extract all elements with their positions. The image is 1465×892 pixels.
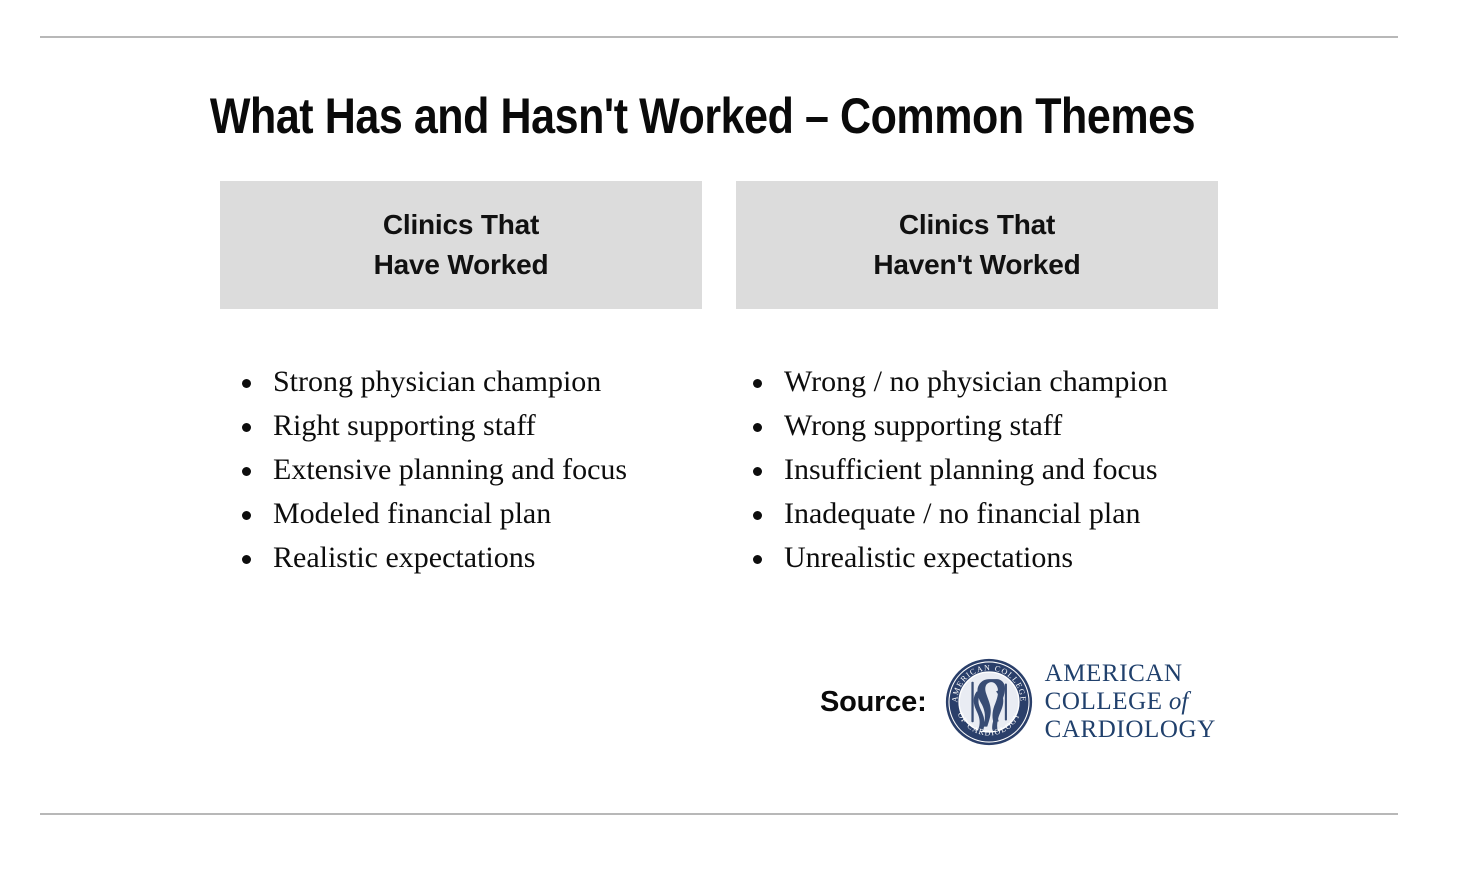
- list-item-label: Strong physician champion: [273, 365, 601, 398]
- acc-wordmark-line2-main: COLLEGE: [1045, 688, 1163, 715]
- list-item: Strong physician champion: [220, 360, 702, 404]
- list-item: Right supporting staff: [220, 404, 702, 448]
- list-item-label: Realistic expectations: [273, 541, 535, 574]
- acc-wordmark-line2-italic: of: [1163, 688, 1189, 715]
- column-header-have-worked-line1: Clinics That: [383, 210, 539, 240]
- list-item-label: Wrong / no physician champion: [784, 365, 1168, 398]
- bullet-column-have-worked: Strong physician champion Right supporti…: [220, 360, 702, 580]
- bullet-dot-icon: [753, 379, 762, 388]
- list-item: Wrong supporting staff: [736, 404, 1218, 448]
- list-item-label: Right supporting staff: [273, 409, 536, 442]
- list-item: Realistic expectations: [220, 536, 702, 580]
- list-item-label: Extensive planning and focus: [273, 453, 627, 486]
- bullet-dot-icon: [242, 423, 251, 432]
- acc-wordmark-line1: AMERICAN: [1045, 660, 1216, 688]
- list-item: Wrong / no physician champion: [736, 360, 1218, 404]
- bullet-dot-icon: [753, 555, 762, 564]
- bullet-dot-icon: [753, 467, 762, 476]
- acc-logo: AMERICAN COLLEGE OF CARDIOLOGY AMERICAN …: [945, 658, 1216, 746]
- column-bodies: Strong physician champion Right supporti…: [220, 360, 1218, 580]
- acc-wordmark-line2: COLLEGE of: [1045, 688, 1216, 716]
- list-item-label: Insufficient planning and focus: [784, 453, 1158, 486]
- bullet-dot-icon: [242, 511, 251, 520]
- bullet-column-havent-worked: Wrong / no physician champion Wrong supp…: [736, 360, 1218, 580]
- column-header-have-worked: Clinics That Have Worked: [220, 181, 702, 309]
- bullet-list-have-worked: Strong physician champion Right supporti…: [220, 360, 702, 580]
- bullet-dot-icon: [242, 379, 251, 388]
- list-item-label: Wrong supporting staff: [784, 409, 1062, 442]
- top-divider-rule: [40, 36, 1398, 38]
- list-item: Unrealistic expectations: [736, 536, 1218, 580]
- bullet-dot-icon: [753, 423, 762, 432]
- source-attribution: Source:: [820, 657, 1216, 747]
- bullet-dot-icon: [242, 467, 251, 476]
- list-item-label: Modeled financial plan: [273, 497, 551, 530]
- acc-wordmark-line3: CARDIOLOGY: [1045, 716, 1216, 744]
- list-item-label: Inadequate / no financial plan: [784, 497, 1141, 530]
- column-header-havent-worked-line2: Haven't Worked: [873, 250, 1080, 280]
- acc-seal-icon: AMERICAN COLLEGE OF CARDIOLOGY: [945, 658, 1033, 746]
- column-header-have-worked-line2: Have Worked: [374, 250, 549, 280]
- bullet-list-havent-worked: Wrong / no physician champion Wrong supp…: [736, 360, 1218, 580]
- slide-canvas: What Has and Hasn't Worked – Common Them…: [0, 0, 1465, 892]
- column-header-havent-worked: Clinics That Haven't Worked: [736, 181, 1218, 309]
- acc-wordmark: AMERICAN COLLEGE of CARDIOLOGY: [1045, 660, 1216, 744]
- list-item: Inadequate / no financial plan: [736, 492, 1218, 536]
- bullet-dot-icon: [242, 555, 251, 564]
- bottom-divider-rule: [40, 813, 1398, 815]
- bullet-dot-icon: [753, 511, 762, 520]
- list-item: Modeled financial plan: [220, 492, 702, 536]
- column-header-havent-worked-line1: Clinics That: [899, 210, 1055, 240]
- source-label: Source:: [820, 686, 927, 719]
- page-title: What Has and Hasn't Worked – Common Them…: [98, 88, 1306, 144]
- list-item-label: Unrealistic expectations: [784, 541, 1073, 574]
- list-item: Insufficient planning and focus: [736, 448, 1218, 492]
- column-headers: Clinics That Have Worked Clinics That Ha…: [220, 181, 1218, 309]
- list-item: Extensive planning and focus: [220, 448, 702, 492]
